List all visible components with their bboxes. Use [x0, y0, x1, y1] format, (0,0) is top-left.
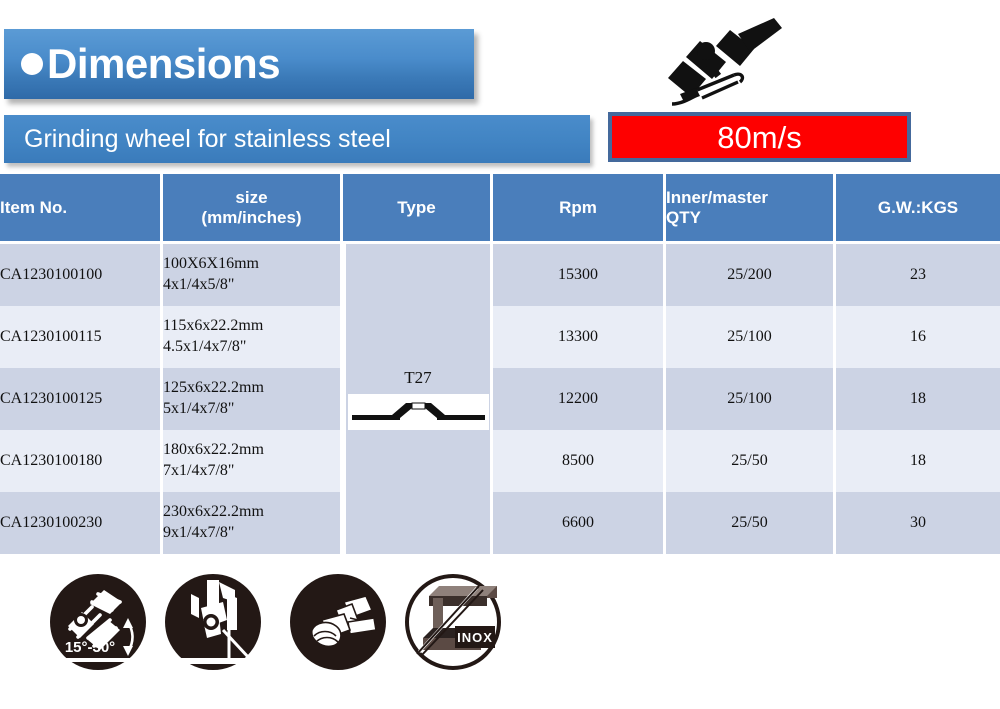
column-header-size-line1: size	[163, 188, 340, 208]
cell-item-no: CA1230100115	[0, 306, 163, 368]
cell-rpm: 15300	[493, 244, 666, 306]
type-label: T27	[404, 368, 431, 388]
cell-size-inch: 7x1/4x7/8"	[163, 461, 340, 482]
cell-gw: 30	[836, 492, 1000, 554]
table-row: CA1230100230 230x6x22.2mm 9x1/4x7/8" 660…	[0, 492, 1000, 554]
column-header-item-no: Item No.	[0, 174, 163, 244]
subtitle-text: Grinding wheel for stainless steel	[24, 127, 391, 152]
cell-gw: 18	[836, 430, 1000, 492]
page-title: Dimensions	[47, 43, 280, 85]
table-row: CA1230100100 100X6X16mm 4x1/4x5/8" T27 1…	[0, 244, 1000, 306]
cell-rpm: 12200	[493, 368, 666, 430]
table-row: CA1230100115 115x6x22.2mm 4.5x1/4x7/8" 1…	[0, 306, 1000, 368]
grinding-angle-icon: 15°-30°	[48, 572, 148, 672]
subtitle-bar: Grinding wheel for stainless steel	[4, 115, 590, 163]
cell-rpm: 13300	[493, 306, 666, 368]
cell-size-mm: 180x6x22.2mm	[163, 440, 340, 461]
cell-size: 100X6X16mm 4x1/4x5/8"	[163, 244, 343, 306]
bullet-dot-icon	[21, 53, 43, 75]
cell-size-inch: 9x1/4x7/8"	[163, 523, 340, 544]
cell-size-inch: 5x1/4x7/8"	[163, 399, 340, 420]
cell-item-no: CA1230100100	[0, 244, 163, 306]
edge-grinding-icon	[163, 572, 263, 672]
cell-size-inch: 4x1/4x5/8"	[163, 275, 340, 296]
cell-item-no: CA1230100230	[0, 492, 163, 554]
cell-size: 180x6x22.2mm 7x1/4x7/8"	[163, 430, 343, 492]
angle-grinder-tool-icon	[288, 572, 388, 672]
column-header-rpm: Rpm	[493, 174, 666, 244]
cell-size: 230x6x22.2mm 9x1/4x7/8"	[163, 492, 343, 554]
cell-size: 115x6x22.2mm 4.5x1/4x7/8"	[163, 306, 343, 368]
type-content: T27	[346, 368, 490, 430]
table-row: CA1230100125 125x6x22.2mm 5x1/4x7/8" 122…	[0, 368, 1000, 430]
grinding-angle-label: 15°-30°	[65, 639, 115, 656]
header-area: Dimensions Grinding wheel for stainless …	[0, 0, 1000, 168]
cell-gw: 16	[836, 306, 1000, 368]
column-header-type: Type	[343, 174, 493, 244]
cell-qty: 25/50	[666, 430, 836, 492]
column-header-gw: G.W.:KGS	[836, 174, 1000, 244]
speed-badge: 80m/s	[608, 112, 911, 162]
cell-type-merged: T27	[343, 244, 493, 554]
speed-badge-label: 80m/s	[717, 122, 801, 153]
cell-size-mm: 230x6x22.2mm	[163, 502, 340, 523]
column-header-qty: Inner/master QTY	[666, 174, 836, 244]
cell-qty: 25/50	[666, 492, 836, 554]
page-title-bar: Dimensions	[4, 29, 474, 99]
specifications-table: Item No. size (mm/inches) Type Rpm Inner…	[0, 174, 1000, 554]
cell-rpm: 8500	[493, 430, 666, 492]
column-header-size-line2: (mm/inches)	[163, 208, 340, 228]
column-header-qty-line2: QTY	[666, 208, 833, 228]
cell-size-inch: 4.5x1/4x7/8"	[163, 337, 340, 358]
cell-size-mm: 115x6x22.2mm	[163, 316, 340, 337]
cell-rpm: 6600	[493, 492, 666, 554]
cell-size-mm: 125x6x22.2mm	[163, 378, 340, 399]
table-body: CA1230100100 100X6X16mm 4x1/4x5/8" T27 1…	[0, 244, 1000, 554]
angle-grinder-icon	[650, 16, 820, 116]
application-icon-strip: 15°-30°	[0, 572, 1000, 692]
cell-size: 125x6x22.2mm 5x1/4x7/8"	[163, 368, 343, 430]
inox-label: INOX	[457, 630, 493, 645]
table-header-row: Item No. size (mm/inches) Type Rpm Inner…	[0, 174, 1000, 244]
depressed-center-wheel-profile-icon	[348, 394, 489, 430]
cell-gw: 23	[836, 244, 1000, 306]
cell-item-no: CA1230100180	[0, 430, 163, 492]
cell-gw: 18	[836, 368, 1000, 430]
cell-qty: 25/100	[666, 306, 836, 368]
inox-stainless-steel-icon: INOX	[403, 572, 503, 672]
cell-item-no: CA1230100125	[0, 368, 163, 430]
column-header-size: size (mm/inches)	[163, 174, 343, 244]
cell-qty: 25/100	[666, 368, 836, 430]
cell-qty: 25/200	[666, 244, 836, 306]
column-header-qty-line1: Inner/master	[666, 188, 833, 208]
cell-size-mm: 100X6X16mm	[163, 254, 340, 275]
table-row: CA1230100180 180x6x22.2mm 7x1/4x7/8" 850…	[0, 430, 1000, 492]
